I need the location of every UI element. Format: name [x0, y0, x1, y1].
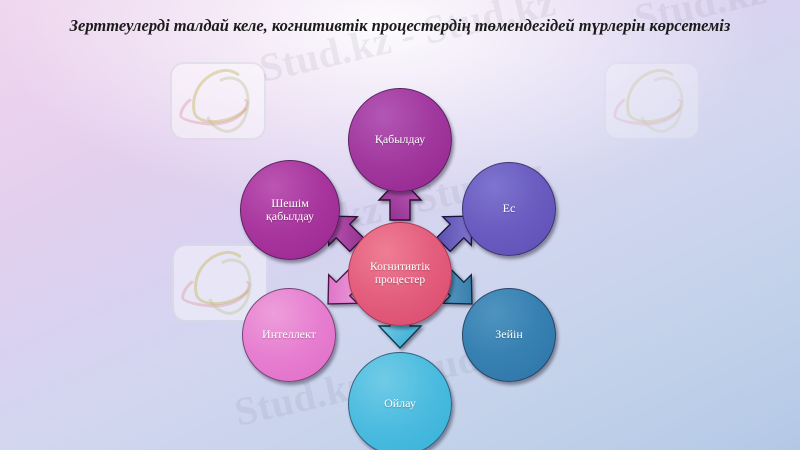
node-label: Ес	[497, 202, 522, 215]
node-attention[interactable]: Зейін	[462, 288, 556, 382]
node-memory[interactable]: Ес	[462, 162, 556, 256]
node-thinking[interactable]: Ойлау	[348, 352, 452, 450]
cognitive-processes-diagram: Қабылдау Ес Зейін Ойлау Интеллект Шешім …	[0, 0, 800, 450]
page-title: Зерттеулерді талдай келе, когнитивтік пр…	[60, 14, 740, 37]
node-label: Қабылдау	[369, 133, 431, 146]
node-decision-making[interactable]: Шешім қабылдау	[240, 160, 340, 260]
slide-canvas: Stud.kz - Stud.kz Stud.kz - Stud.kz Stud…	[0, 0, 800, 450]
node-label: Когнитивтік процестер	[349, 261, 451, 287]
node-perception[interactable]: Қабылдау	[348, 88, 452, 192]
node-cognitive-processes-hub[interactable]: Когнитивтік процестер	[348, 222, 452, 326]
node-label: Интеллект	[256, 328, 322, 341]
node-intellect[interactable]: Интеллект	[242, 288, 336, 382]
node-label: Ойлау	[378, 397, 422, 410]
node-label: Шешім қабылдау	[241, 197, 339, 224]
node-label: Зейін	[489, 328, 529, 341]
